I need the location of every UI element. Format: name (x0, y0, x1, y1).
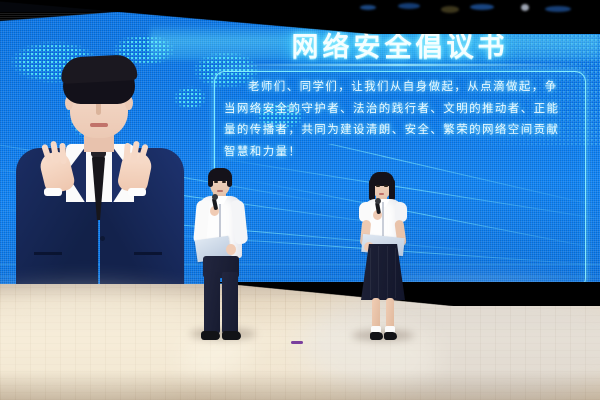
led-figure-cuff-left (44, 188, 62, 196)
female-presenter (348, 168, 420, 344)
body-line-3: 量的传播者，共同为建设清朗、安全、繁荣的网络空间贡献 (224, 119, 576, 141)
truss-fixture (441, 6, 459, 13)
truss-spotlight (521, 4, 529, 11)
truss-light-3 (470, 4, 494, 10)
led-figure-mouth (90, 123, 108, 127)
male-eye-left (214, 181, 218, 183)
female-eye-right (384, 185, 388, 187)
female-skirt-pleat-2 (378, 246, 379, 298)
led-figure-cuff-right (128, 188, 146, 196)
led-wall-figure (8, 40, 188, 298)
female-eye-left (376, 185, 380, 187)
led-body-text: 老师们、同学们，让我们从自身做起，从点滴做起，争 当网络安全的守护者、法治的践行… (224, 76, 576, 162)
female-skirt-pleat-3 (387, 246, 388, 298)
microphone-head-male (212, 194, 218, 200)
male-trouser-right (222, 272, 238, 334)
female-skirt-pleat-4 (395, 248, 396, 298)
male-trouser-left (204, 272, 220, 334)
female-hair-strand-left (369, 179, 375, 201)
female-hair-strand-right (389, 179, 395, 201)
led-figure-pocket-right (134, 252, 162, 255)
led-figure-jacket-button (100, 236, 105, 241)
truss-light-1 (360, 5, 376, 10)
male-eye-right (222, 181, 226, 183)
stage-floor-front-edge (0, 282, 600, 306)
stage-photo: 网络安全倡议书 老师们、同学们，让我们从自身做起，从点滴做起，争 当网络安全的守… (0, 0, 600, 400)
ceiling-dark-band (0, 0, 600, 34)
microphone-head-female (375, 198, 381, 204)
truss-light-4 (545, 6, 571, 12)
female-skirt-pleat-1 (370, 248, 371, 298)
male-presenter (186, 166, 258, 342)
body-line-1: 老师们、同学们，让我们从自身做起，从点滴做起，争 (224, 76, 576, 98)
male-shoe-right (222, 331, 241, 340)
floor-foreground-shading (0, 370, 600, 400)
body-line-2: 当网络安全的守护者、法治的践行者、文明的推动者、正能 (224, 98, 576, 120)
male-hand-folder (226, 244, 236, 255)
body-line-4: 智慧和力量！ (224, 141, 576, 163)
female-shoe-left (370, 332, 383, 340)
female-shoe-right (384, 332, 397, 340)
male-sideburn-right (227, 176, 232, 187)
male-mouth (217, 190, 223, 192)
led-figure-hair-highlight (60, 54, 137, 84)
female-mouth (379, 193, 384, 195)
floor-marker-tape (291, 341, 303, 344)
title-underline (212, 64, 584, 66)
led-figure-pocket-left (34, 252, 62, 255)
truss-light-2 (398, 3, 420, 9)
female-sleeve-right (395, 202, 407, 222)
male-sideburn-left (208, 176, 213, 187)
male-shoe-left (201, 331, 220, 340)
